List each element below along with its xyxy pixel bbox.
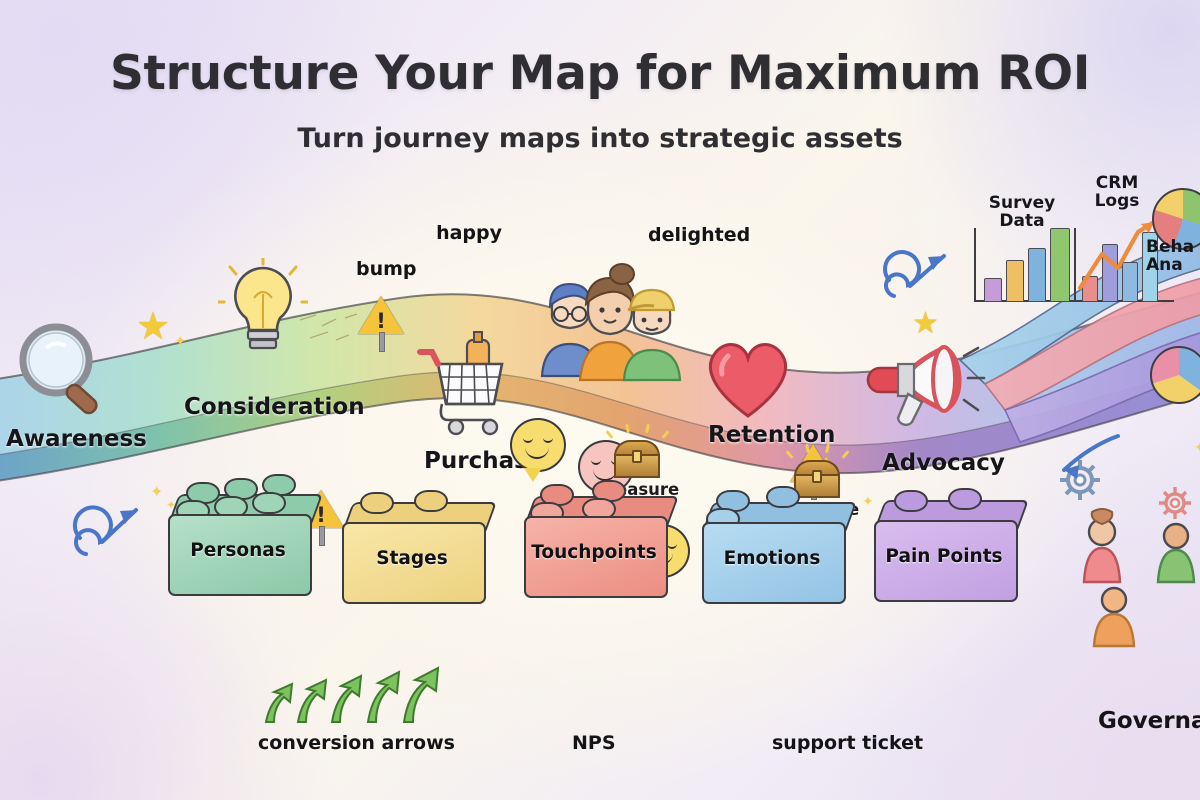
legend-label-nps: NPS — [572, 732, 616, 754]
sparkle-icon-2: ✦ — [150, 482, 163, 501]
magnifying-glass-icon — [8, 318, 118, 428]
governance-title: Governan — [1098, 708, 1200, 734]
sparkle-icon-5: ✦ — [1194, 440, 1200, 456]
spiral-arrow-icon-left — [62, 496, 148, 570]
sparkle-icon-4: ✦ — [862, 494, 874, 510]
conversion-arrows-icon — [258, 664, 444, 726]
heart-icon — [700, 330, 796, 422]
block-touchpoints[interactable]: Touchpoints — [518, 482, 670, 600]
annotation-delighted: delighted — [648, 224, 750, 246]
stage-label-awareness: Awareness — [6, 426, 147, 452]
chart-pie-behavioral-2 — [1150, 346, 1200, 404]
stage-label-advocacy: Advocacy — [882, 450, 1005, 476]
chart-title-survey-data: Survey Data — [972, 194, 1072, 231]
survey-data-line2: Data — [999, 211, 1044, 231]
lightbulb-icon — [218, 258, 308, 368]
behavioral-line1: Beha — [1146, 237, 1194, 257]
block-emotions[interactable]: Emotions — [696, 488, 848, 606]
sparkle-icon-3: ✦ — [166, 498, 176, 512]
crm-logs-line1: CRM — [1096, 173, 1138, 193]
star-icon-left: ★ — [136, 304, 170, 348]
annotation-happy: happy — [436, 222, 512, 244]
block-pain-points[interactable]: Pain Points — [868, 486, 1020, 604]
block-label-touchpoints: Touchpoints — [518, 542, 670, 563]
survey-data-line1: Survey — [989, 193, 1055, 213]
customer-persona-group — [524, 262, 694, 382]
block-label-stages: Stages — [336, 548, 488, 569]
star-icon-right: ★ — [912, 306, 939, 341]
page-title: Structure Your Map for Maximum ROI — [0, 46, 1200, 101]
block-label-personas: Personas — [162, 540, 314, 561]
legend-label-conversion-arrows: conversion arrows — [258, 732, 455, 754]
warning-sign-icon-bump: ! — [358, 296, 404, 348]
infographic-canvas: Structure Your Map for Maximum ROI Turn … — [0, 0, 1200, 800]
block-stages[interactable]: Stages — [336, 488, 488, 606]
behavioral-line2: Ana — [1146, 255, 1183, 275]
chart-title-behavioral-analytics: Beha Ana — [1146, 238, 1200, 275]
block-personas[interactable]: Personas — [162, 480, 314, 598]
legend-label-support-ticket: support ticket — [772, 732, 923, 754]
emotion-bubble-happy — [510, 418, 566, 472]
shopping-cart-icon — [412, 330, 527, 445]
curved-arrow-icon-advocacy — [1054, 428, 1124, 484]
treasure-chest-icon-left — [614, 440, 660, 478]
governance-people — [1078, 508, 1198, 648]
annotation-bump: bump — [356, 258, 417, 280]
page-subtitle: Turn journey maps into strategic assets — [0, 123, 1200, 154]
chart-title-crm-logs: CRM Logs — [1072, 174, 1162, 211]
crm-logs-line2: Logs — [1095, 191, 1140, 211]
megaphone-icon — [866, 340, 988, 440]
block-label-emotions: Emotions — [696, 548, 848, 569]
stage-label-consideration: Consideration — [184, 394, 365, 420]
sparkle-icon-1: ✦ — [174, 332, 187, 350]
block-label-pain-points: Pain Points — [868, 546, 1020, 567]
